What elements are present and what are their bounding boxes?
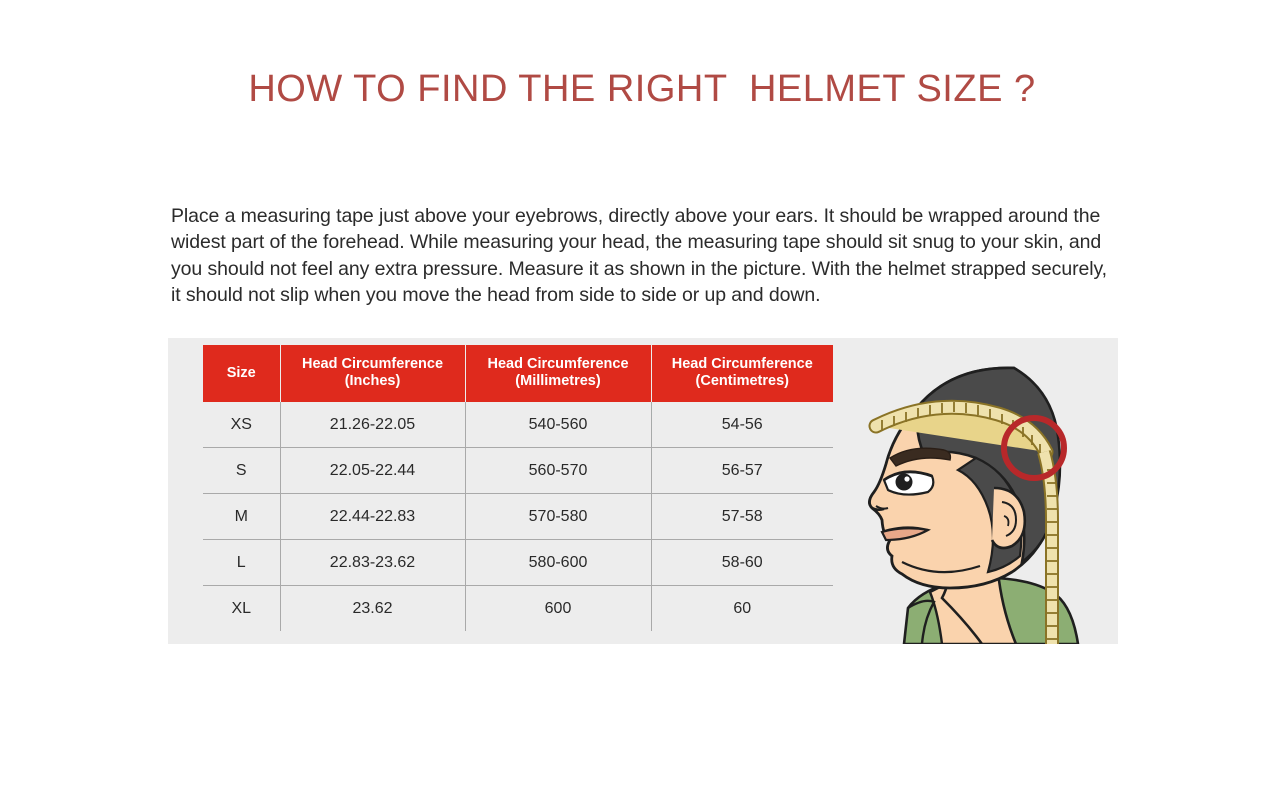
page-title: HOW TO FIND THE RIGHT HELMET SIZE ?: [0, 68, 1284, 111]
helmet-size-guide-page: HOW TO FIND THE RIGHT HELMET SIZE ? Plac…: [0, 0, 1284, 796]
cell-size: L: [203, 540, 280, 586]
head-measuring-tape-illustration: [846, 340, 1118, 644]
col-header-millimetres-line1: Head Circumference: [487, 356, 628, 372]
cell-inches: 22.05-22.44: [280, 448, 465, 494]
cell-mm: 570-580: [465, 494, 651, 540]
col-header-inches: Head Circumference (Inches): [280, 345, 465, 402]
col-header-size-line1: Size: [227, 365, 256, 381]
table-header-row: Size Head Circumference (Inches) Head Ci…: [203, 345, 833, 402]
cell-cm: 57-58: [651, 494, 833, 540]
table-row: L 22.83-23.62 580-600 58-60: [203, 540, 833, 586]
col-header-centimetres-line2: (Centimetres): [696, 373, 789, 389]
table-row: S 22.05-22.44 560-570 56-57: [203, 448, 833, 494]
cell-inches: 22.83-23.62: [280, 540, 465, 586]
col-header-centimetres-line1: Head Circumference: [672, 356, 813, 372]
col-header-millimetres-line2: (Millimetres): [515, 373, 600, 389]
measuring-tape-vertical: [1044, 452, 1057, 644]
cell-cm: 60: [651, 586, 833, 632]
head-profile-svg: [846, 340, 1118, 644]
table-body: XS 21.26-22.05 540-560 54-56 S 22.05-22.…: [203, 402, 833, 631]
col-header-millimetres: Head Circumference (Millimetres): [465, 345, 651, 402]
cell-size: XS: [203, 402, 280, 448]
col-header-centimetres: Head Circumference (Centimetres): [651, 345, 833, 402]
cell-size: XL: [203, 586, 280, 632]
cell-inches: 22.44-22.83: [280, 494, 465, 540]
col-header-inches-line2: (Inches): [345, 373, 401, 389]
table-row: XS 21.26-22.05 540-560 54-56: [203, 402, 833, 448]
cell-cm: 56-57: [651, 448, 833, 494]
table-row: M 22.44-22.83 570-580 57-58: [203, 494, 833, 540]
intro-paragraph: Place a measuring tape just above your e…: [171, 203, 1119, 309]
eye: [884, 472, 933, 495]
cell-inches: 21.26-22.05: [280, 402, 465, 448]
size-chart-table: Size Head Circumference (Inches) Head Ci…: [203, 345, 833, 631]
cell-mm: 560-570: [465, 448, 651, 494]
col-header-size: Size: [203, 345, 280, 402]
cell-cm: 54-56: [651, 402, 833, 448]
table-row: XL 23.62 600 60: [203, 586, 833, 632]
col-header-inches-line1: Head Circumference: [302, 356, 443, 372]
cell-mm: 580-600: [465, 540, 651, 586]
cell-mm: 540-560: [465, 402, 651, 448]
table-header: Size Head Circumference (Inches) Head Ci…: [203, 345, 833, 402]
cell-size: S: [203, 448, 280, 494]
cell-inches: 23.62: [280, 586, 465, 632]
cell-size: M: [203, 494, 280, 540]
cell-mm: 600: [465, 586, 651, 632]
cell-cm: 58-60: [651, 540, 833, 586]
